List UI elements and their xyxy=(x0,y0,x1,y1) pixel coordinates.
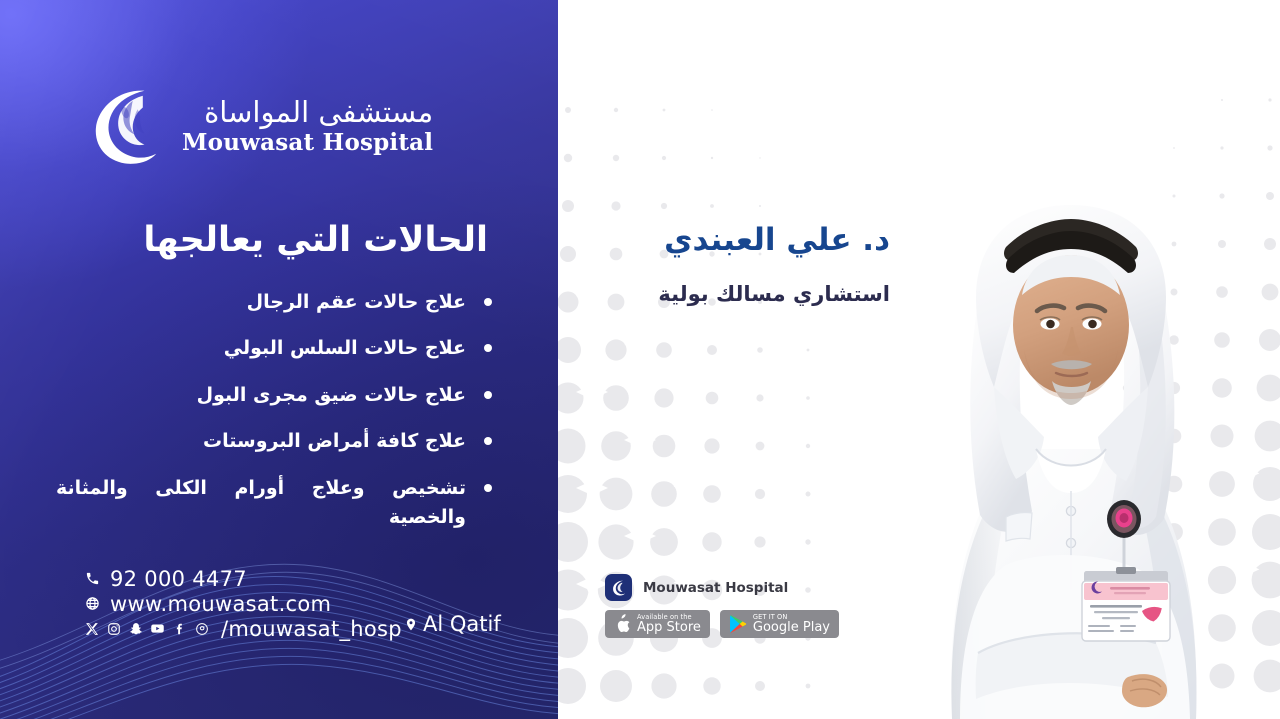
website-row[interactable]: www.mouwasat.com xyxy=(84,591,402,616)
app-header: Mouwasat Hospital xyxy=(605,574,839,601)
app-store-badge-label: App Store xyxy=(637,621,701,635)
phone-row[interactable]: 92 000 4477 xyxy=(84,566,402,591)
doctor-portrait xyxy=(856,119,1280,719)
list-item: علاج حالات عقم الرجال xyxy=(56,288,492,317)
website-url: www.mouwasat.com xyxy=(110,592,331,616)
apple-icon xyxy=(614,614,631,634)
brand-name-arabic: مستشفى المواساة xyxy=(204,98,433,127)
list-item-label: علاج حالات ضيق مجرى البول xyxy=(56,381,466,410)
social-handle: /mouwasat_hosp xyxy=(221,617,402,641)
location-label: Al Qatif xyxy=(423,612,501,636)
location-block: Al Qatif xyxy=(404,612,501,636)
list-item: علاج حالات ضيق مجرى البول xyxy=(56,381,492,410)
conditions-list: علاج حالات عقم الرجال علاج حالات السلس ا… xyxy=(56,288,492,550)
globe-icon xyxy=(84,595,101,612)
bullet-dot-icon xyxy=(484,437,492,445)
promo-banner: مستشفى المواساة Mouwasat Hospital الحالا… xyxy=(0,0,1280,719)
google-play-icon xyxy=(729,614,747,634)
list-item: علاج حالات السلس البولي xyxy=(56,334,492,363)
bullet-dot-icon xyxy=(484,298,492,306)
phone-icon xyxy=(84,570,101,587)
bullet-dot-icon xyxy=(484,391,492,399)
list-item-label: تشخيص وعلاج أورام الكلى والمثانة والخصية xyxy=(56,474,466,533)
snapchat-icon[interactable] xyxy=(128,621,143,636)
social-row[interactable]: /mouwasat_hosp xyxy=(84,616,402,641)
contact-block: 92 000 4477 www.mouwasat.com xyxy=(84,566,402,641)
crescent-moon-logo-icon xyxy=(84,84,168,168)
bullet-dot-icon xyxy=(484,344,492,352)
list-item: تشخيص وعلاج أورام الكلى والمثانة والخصية xyxy=(56,474,492,533)
app-title: Mouwasat Hospital xyxy=(643,580,788,596)
threads-icon[interactable] xyxy=(194,621,209,636)
google-play-badge-label: Google Play xyxy=(753,621,830,635)
page-title: الحالات التي يعالجها xyxy=(58,219,488,261)
map-pin-icon xyxy=(404,616,418,633)
mouwasat-app-icon xyxy=(605,574,632,601)
store-badges: Available on the App Store GET IT ON Goo… xyxy=(605,610,839,638)
list-item-label: علاج حالات السلس البولي xyxy=(56,334,466,363)
google-play-badge[interactable]: GET IT ON Google Play xyxy=(720,610,839,638)
app-store-badge[interactable]: Available on the App Store xyxy=(605,610,710,638)
list-item-label: علاج كافة أمراض البروستات xyxy=(56,427,466,456)
instagram-icon[interactable] xyxy=(106,621,121,636)
brand-name-english: Mouwasat Hospital xyxy=(182,131,433,154)
brand-wordmark: مستشفى المواساة Mouwasat Hospital xyxy=(182,98,433,154)
bullet-dot-icon xyxy=(484,484,492,492)
left-info-panel: مستشفى المواساة Mouwasat Hospital الحالا… xyxy=(0,0,558,719)
phone-number: 92 000 4477 xyxy=(110,567,247,591)
list-item: علاج كافة أمراض البروستات xyxy=(56,427,492,456)
right-doctor-panel: د. علي العبندي استشاري مسالك بولية Mouwa… xyxy=(558,0,1280,719)
app-download-block: Mouwasat Hospital Available on the App S… xyxy=(605,574,839,638)
facebook-icon[interactable] xyxy=(172,621,187,636)
brand-logo: مستشفى المواساة Mouwasat Hospital xyxy=(84,84,433,168)
x-twitter-icon[interactable] xyxy=(84,621,99,636)
list-item-label: علاج حالات عقم الرجال xyxy=(56,288,466,317)
youtube-icon[interactable] xyxy=(150,621,165,636)
